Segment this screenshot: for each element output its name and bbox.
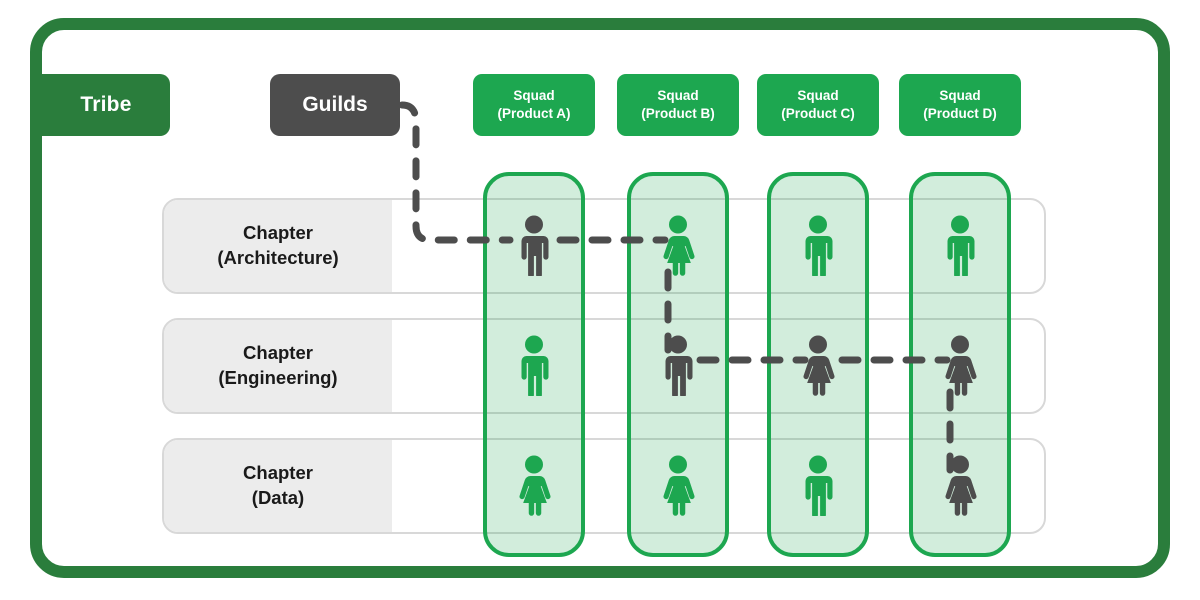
squad-header-1[interactable]: Squad(Product B) xyxy=(617,74,739,136)
chapter-label-line1: Chapter xyxy=(243,221,313,246)
person-male-icon[interactable] xyxy=(795,454,841,516)
squad-header-line1: Squad xyxy=(939,87,980,105)
person-male-icon[interactable] xyxy=(511,214,557,276)
chapter-label-line1: Chapter xyxy=(243,461,313,486)
chapter-label-line2: (Engineering) xyxy=(218,366,337,391)
person-male-icon[interactable] xyxy=(655,334,701,396)
squad-header-0[interactable]: Squad(Product A) xyxy=(473,74,595,136)
guilds-label[interactable]: Guilds xyxy=(270,74,400,136)
squad-header-line1: Squad xyxy=(513,87,554,105)
chapter-label-line2: (Data) xyxy=(252,486,304,511)
chapter-label-line2: (Architecture) xyxy=(217,246,338,271)
squad-header-line1: Squad xyxy=(657,87,698,105)
tribe-label[interactable]: Tribe xyxy=(42,74,170,136)
squad-header-line2: (Product A) xyxy=(498,105,571,123)
person-female-icon[interactable] xyxy=(655,454,701,516)
tribe-label-text: Tribe xyxy=(80,93,131,117)
person-female-icon[interactable] xyxy=(937,454,983,516)
squad-header-2[interactable]: Squad(Product C) xyxy=(757,74,879,136)
diagram-canvas: Chapter(Architecture)Chapter(Engineering… xyxy=(0,0,1200,600)
squad-header-line2: (Product D) xyxy=(923,105,997,123)
person-female-icon[interactable] xyxy=(937,334,983,396)
chapter-label-1: Chapter(Engineering) xyxy=(164,320,392,412)
person-male-icon[interactable] xyxy=(937,214,983,276)
squad-header-3[interactable]: Squad(Product D) xyxy=(899,74,1021,136)
chapter-label-line1: Chapter xyxy=(243,341,313,366)
person-male-icon[interactable] xyxy=(511,334,557,396)
squad-header-line1: Squad xyxy=(797,87,838,105)
squad-header-line2: (Product C) xyxy=(781,105,855,123)
chapter-label-0: Chapter(Architecture) xyxy=(164,200,392,292)
person-male-icon[interactable] xyxy=(795,214,841,276)
chapter-label-2: Chapter(Data) xyxy=(164,440,392,532)
person-female-icon[interactable] xyxy=(795,334,841,396)
squad-header-line2: (Product B) xyxy=(641,105,715,123)
person-female-icon[interactable] xyxy=(655,214,701,276)
guilds-label-text: Guilds xyxy=(302,93,367,117)
person-female-icon[interactable] xyxy=(511,454,557,516)
